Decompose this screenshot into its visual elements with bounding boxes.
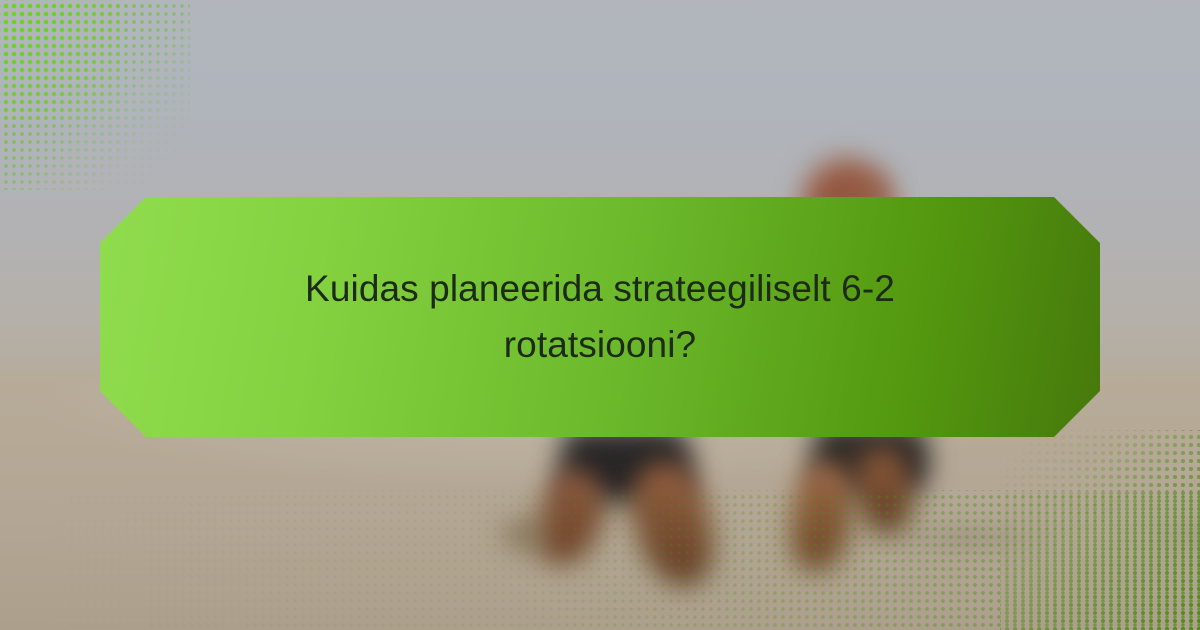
sand-mark-right (1140, 520, 1200, 550)
headline-text: Kuidas planeerida strateegiliselt 6-2 ro… (200, 261, 1000, 373)
sand-mark-left (880, 520, 1060, 556)
player-foot-left (492, 514, 558, 556)
banner-card: Kuidas planeerida strateegiliselt 6-2 ro… (0, 0, 1200, 630)
headline-banner: Kuidas planeerida strateegiliselt 6-2 ro… (100, 197, 1100, 437)
